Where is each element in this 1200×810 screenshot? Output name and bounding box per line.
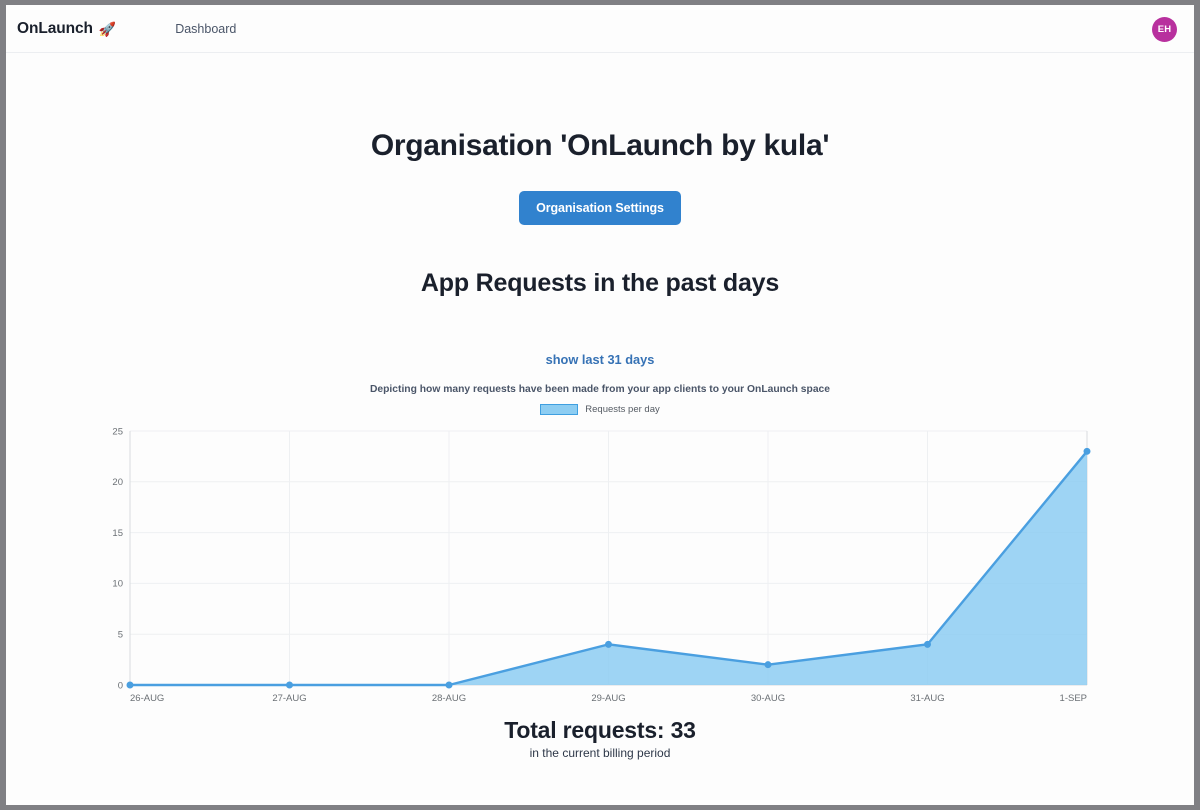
total-requests-value: Total requests: 33 bbox=[6, 717, 1194, 744]
main-content: Organisation 'OnLaunch by kula' Organisa… bbox=[6, 53, 1194, 805]
chart-plot-area[interactable]: 051015202526-AUG27-AUG28-AUG29-AUG30-AUG… bbox=[100, 423, 1100, 713]
brand-logo[interactable]: OnLaunch 🚀 bbox=[17, 20, 116, 38]
svg-text:28-AUG: 28-AUG bbox=[432, 693, 466, 704]
show-last-31-days-link[interactable]: show last 31 days bbox=[546, 352, 655, 367]
requests-chart: Requests per day 051015202526-AUG27-AUG2… bbox=[100, 401, 1100, 701]
svg-text:5: 5 bbox=[118, 630, 123, 641]
svg-text:31-AUG: 31-AUG bbox=[910, 693, 944, 704]
section-title-app-requests: App Requests in the past days bbox=[6, 225, 1194, 298]
svg-text:26-AUG: 26-AUG bbox=[130, 693, 164, 704]
nav-links: Dashboard bbox=[169, 18, 242, 40]
total-requests-subtitle: in the current billing period bbox=[6, 746, 1194, 760]
chart-svg: 051015202526-AUG27-AUG28-AUG29-AUG30-AUG… bbox=[100, 423, 1100, 713]
chart-legend: Requests per day bbox=[100, 401, 1100, 417]
page-title: Organisation 'OnLaunch by kula' bbox=[6, 53, 1194, 163]
svg-text:29-AUG: 29-AUG bbox=[591, 693, 625, 704]
svg-text:30-AUG: 30-AUG bbox=[751, 693, 785, 704]
nav-link-dashboard[interactable]: Dashboard bbox=[169, 18, 242, 40]
rocket-icon: 🚀 bbox=[99, 22, 116, 36]
svg-text:15: 15 bbox=[112, 528, 123, 539]
chart-caption: Depicting how many requests have been ma… bbox=[6, 384, 1194, 395]
legend-swatch-requests-per-day bbox=[540, 404, 578, 415]
top-navigation-bar: OnLaunch 🚀 Dashboard EH bbox=[6, 5, 1194, 53]
svg-text:10: 10 bbox=[112, 579, 123, 590]
organisation-settings-button[interactable]: Organisation Settings bbox=[519, 191, 681, 225]
legend-label-requests-per-day: Requests per day bbox=[585, 404, 659, 415]
svg-text:25: 25 bbox=[112, 426, 123, 437]
avatar[interactable]: EH bbox=[1152, 17, 1177, 42]
svg-text:1-SEP: 1-SEP bbox=[1060, 693, 1087, 704]
browser-window: OnLaunch 🚀 Dashboard EH Organisation 'On… bbox=[0, 0, 1200, 810]
brand-label: OnLaunch bbox=[17, 20, 93, 38]
svg-text:27-AUG: 27-AUG bbox=[272, 693, 306, 704]
svg-text:0: 0 bbox=[118, 680, 123, 691]
svg-text:20: 20 bbox=[112, 477, 123, 488]
